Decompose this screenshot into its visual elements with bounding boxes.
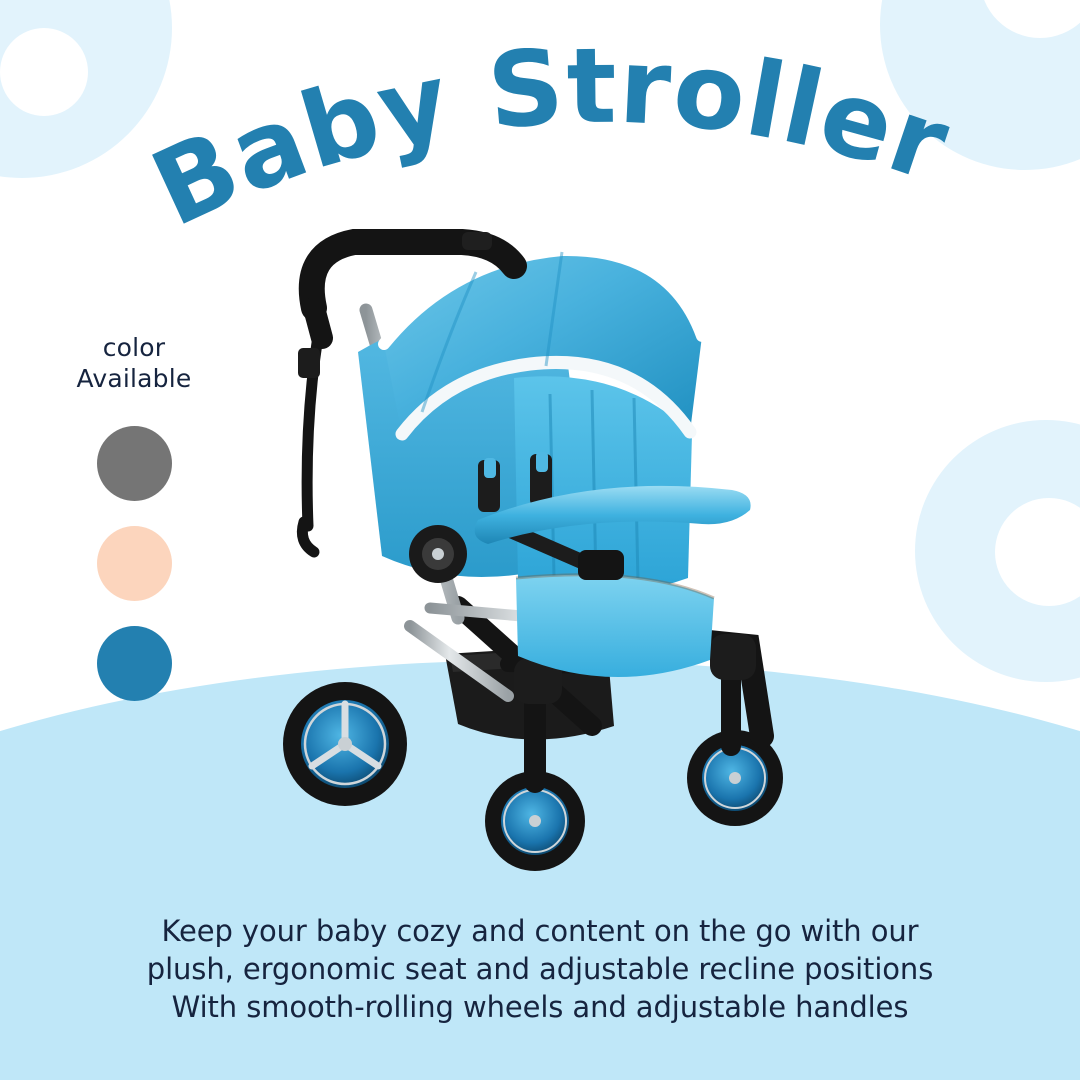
- ring-hole: [0, 28, 88, 116]
- color-swatch-peach[interactable]: [97, 526, 172, 601]
- stroller-wrist-strap: [298, 336, 320, 552]
- decorative-ring-right: [915, 420, 1080, 682]
- stroller-recline-hub: [409, 525, 467, 583]
- color-availability-block: color Available: [44, 332, 224, 701]
- poster-canvas: Baby Stroller color Available: [0, 0, 1080, 1080]
- front-wheel-mount-right: [710, 634, 756, 680]
- ring-hole: [995, 498, 1080, 606]
- color-swatch-gray[interactable]: [97, 426, 172, 501]
- decorative-ring-top-left: [0, 0, 172, 178]
- title-text: Baby Stroller: [135, 48, 964, 248]
- description-line-1: Keep your baby cozy and content on the g…: [0, 912, 1080, 950]
- stroller-rear-wheel: [283, 682, 407, 806]
- stroller-seat-cushion: [516, 575, 714, 677]
- color-swatch-blue[interactable]: [97, 626, 172, 701]
- color-swatch-list: [44, 426, 224, 701]
- handlebar-adjuster: [462, 232, 492, 250]
- description-line-3: With smooth-rolling wheels and adjustabl…: [0, 988, 1080, 1026]
- product-description: Keep your baby cozy and content on the g…: [0, 912, 1080, 1026]
- ring-hole: [980, 0, 1080, 38]
- stroller-illustration: [262, 226, 842, 896]
- color-label-line1: color: [44, 332, 224, 363]
- color-label-line2: Available: [44, 363, 224, 394]
- decorative-ring-top-right: [880, 0, 1080, 170]
- product-image-baby-stroller: [262, 226, 842, 896]
- description-line-2: plush, ergonomic seat and adjustable rec…: [0, 950, 1080, 988]
